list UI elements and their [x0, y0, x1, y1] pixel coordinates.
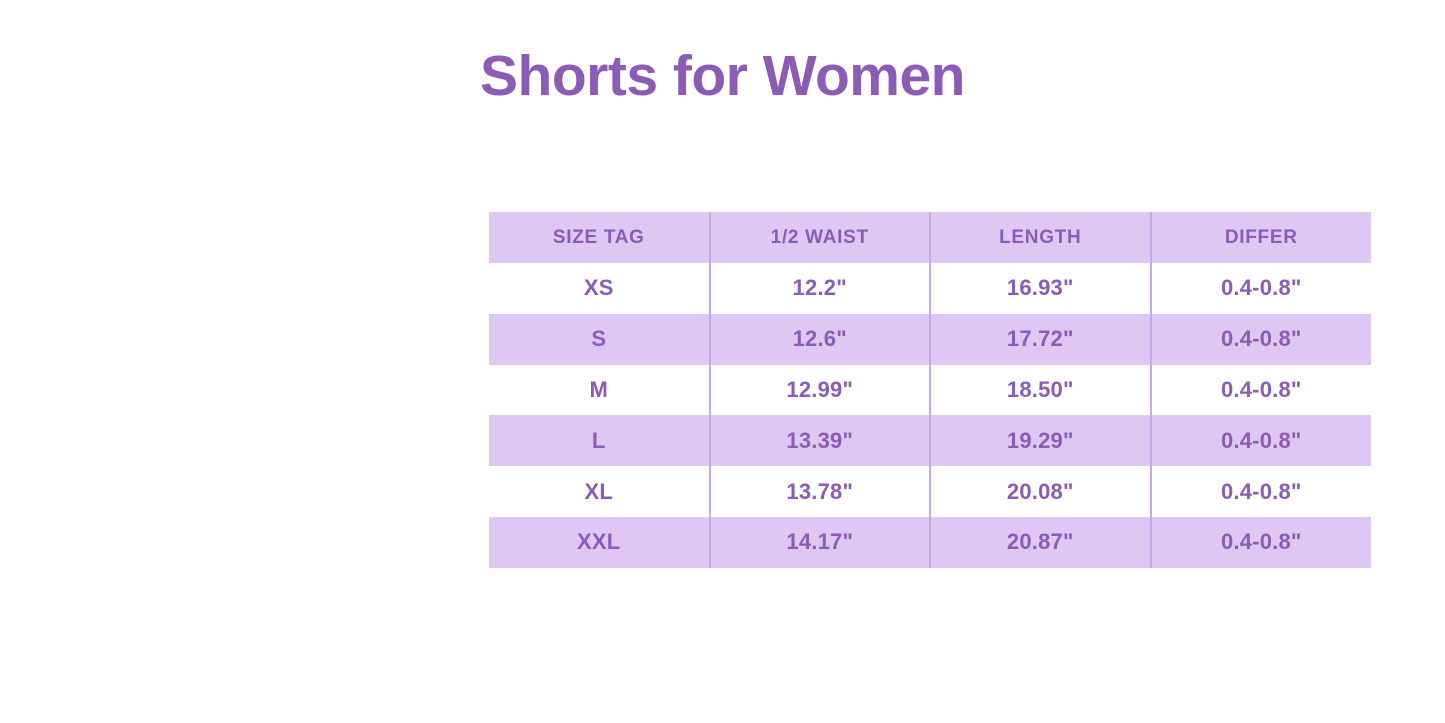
- page-title: Shorts for Women: [0, 44, 1445, 110]
- cell-length: 16.93": [930, 263, 1151, 314]
- table-row: XS 12.2" 16.93" 0.4-0.8": [489, 263, 1371, 314]
- cell-half-waist: 12.2": [710, 263, 931, 314]
- cell-differ: 0.4-0.8": [1151, 466, 1372, 517]
- table-row: XL 13.78" 20.08" 0.4-0.8": [489, 466, 1371, 517]
- table-row: XXL 14.17" 20.87" 0.4-0.8": [489, 517, 1371, 568]
- size-chart-header: SIZE TAG 1/2 WAIST LENGTH DIFFER: [489, 212, 1371, 263]
- cell-differ: 0.4-0.8": [1151, 517, 1372, 568]
- cell-length: 18.50": [930, 365, 1151, 416]
- cell-size-tag: XL: [489, 466, 710, 517]
- size-chart-body: XS 12.2" 16.93" 0.4-0.8" S 12.6" 17.72" …: [489, 263, 1371, 568]
- cell-half-waist: 12.6": [710, 314, 931, 365]
- cell-half-waist: 13.78": [710, 466, 931, 517]
- cell-length: 20.08": [930, 466, 1151, 517]
- cell-size-tag: XXL: [489, 517, 710, 568]
- cell-half-waist: 13.39": [710, 415, 931, 466]
- cell-length: 17.72": [930, 314, 1151, 365]
- table-row: L 13.39" 19.29" 0.4-0.8": [489, 415, 1371, 466]
- size-chart-container: SIZE TAG 1/2 WAIST LENGTH DIFFER XS 12.2…: [489, 212, 1371, 568]
- cell-size-tag: XS: [489, 263, 710, 314]
- cell-differ: 0.4-0.8": [1151, 314, 1372, 365]
- cell-size-tag: M: [489, 365, 710, 416]
- cell-differ: 0.4-0.8": [1151, 263, 1372, 314]
- cell-half-waist: 12.99": [710, 365, 931, 416]
- size-chart-page: Shorts for Women SIZE TAG 1/2 WAIST LENG…: [0, 0, 1445, 723]
- column-header-length: LENGTH: [930, 212, 1151, 263]
- table-row: S 12.6" 17.72" 0.4-0.8": [489, 314, 1371, 365]
- cell-half-waist: 14.17": [710, 517, 931, 568]
- column-header-size-tag: SIZE TAG: [489, 212, 710, 263]
- cell-differ: 0.4-0.8": [1151, 415, 1372, 466]
- column-header-half-waist: 1/2 WAIST: [710, 212, 931, 263]
- cell-size-tag: L: [489, 415, 710, 466]
- size-chart-table: SIZE TAG 1/2 WAIST LENGTH DIFFER XS 12.2…: [489, 212, 1371, 568]
- header-row: SIZE TAG 1/2 WAIST LENGTH DIFFER: [489, 212, 1371, 263]
- table-row: M 12.99" 18.50" 0.4-0.8": [489, 365, 1371, 416]
- column-header-differ: DIFFER: [1151, 212, 1372, 263]
- cell-length: 19.29": [930, 415, 1151, 466]
- cell-differ: 0.4-0.8": [1151, 365, 1372, 416]
- cell-size-tag: S: [489, 314, 710, 365]
- cell-length: 20.87": [930, 517, 1151, 568]
